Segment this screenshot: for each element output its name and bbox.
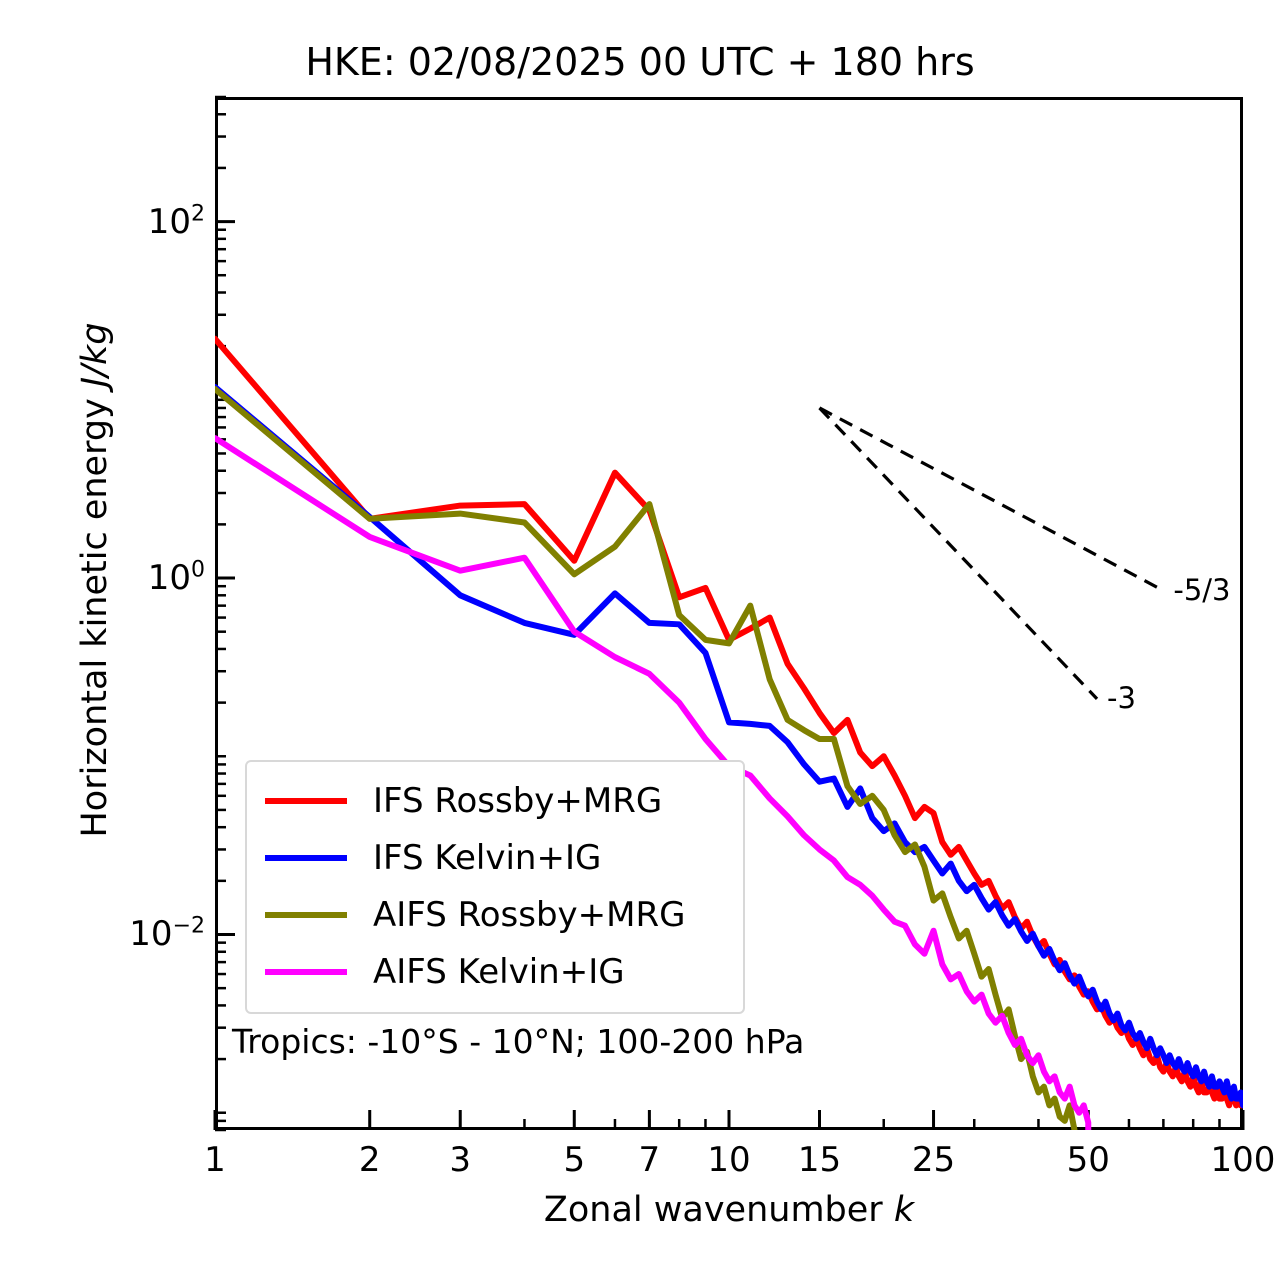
x-tick-label-50: 50 [1067,1140,1110,1180]
x-axis-label: Zonal wavenumber k [215,1190,1243,1230]
legend-color-swatch [265,912,347,918]
y-axis-label-unit: J/kg [75,322,115,387]
page-title: HKE: 02/08/2025 00 UTC + 180 hrs [0,40,1280,84]
legend-color-swatch [265,798,347,804]
x-tick-label-5: 5 [563,1140,585,1180]
legend-label: IFS Rossby+MRG [373,781,662,821]
figure-canvas: HKE: 02/08/2025 00 UTC + 180 hrs Horizon… [0,0,1280,1288]
x-tick-label-15: 15 [798,1140,841,1180]
reference-line--5-3 [820,408,1164,591]
x-tick-label-3: 3 [449,1140,471,1180]
legend-label: AIFS Kelvin+IG [373,952,625,992]
reference-line--3 [820,408,1098,699]
x-tick-label-1: 1 [204,1140,226,1180]
x-tick-label-10: 10 [707,1140,750,1180]
x-tick-label-2: 2 [359,1140,381,1180]
x-tick-label-100: 100 [1211,1140,1276,1180]
region-annotation: Tropics: -10°S - 10°N; 100-200 hPa [232,1022,804,1061]
legend-color-swatch [265,969,347,975]
x-tick-label-7: 7 [639,1140,661,1180]
y-axis-label-text: Horizontal kinetic energy [75,387,115,837]
legend-item-1[interactable]: IFS Kelvin+IG [247,829,743,886]
y-axis-label: Horizontal kinetic energy J/kg [75,200,115,960]
legend-item-3[interactable]: AIFS Kelvin+IG [247,943,743,1000]
y-tick-label-1: 100 [148,558,205,598]
y-tick-label-0: 102 [148,202,205,242]
slope-label--3: -3 [1107,681,1136,715]
legend-label: IFS Kelvin+IG [373,838,601,878]
legend-label: AIFS Rossby+MRG [373,895,685,935]
y-tick-label-2: 10−2 [129,914,205,954]
legend: IFS Rossby+MRGIFS Kelvin+IGAIFS Rossby+M… [245,760,745,1014]
x-axis-label-text: Zonal wavenumber [544,1190,894,1230]
legend-item-0[interactable]: IFS Rossby+MRG [247,772,743,829]
legend-color-swatch [265,855,347,861]
x-axis-label-symbol: k [894,1190,914,1230]
slope-label--5-3: -5/3 [1173,573,1230,607]
x-tick-label-25: 25 [912,1140,955,1180]
legend-item-2[interactable]: AIFS Rossby+MRG [247,886,743,943]
